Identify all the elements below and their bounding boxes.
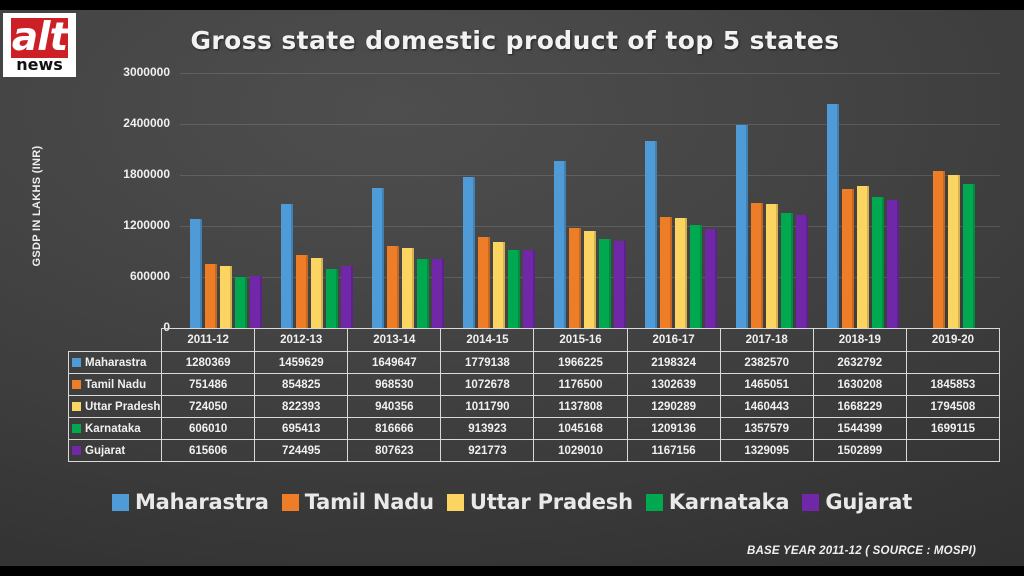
bar-gujarat <box>341 266 353 328</box>
bar-maharastra <box>645 141 657 328</box>
legend-item-tamil-nadu: Tamil Nadu <box>282 490 434 514</box>
data-table: 2011-122012-132013-142014-152015-162016-… <box>68 328 1000 462</box>
table-row-header: Uttar Pradesh <box>69 396 162 418</box>
slide-background: alt news Gross state domestic product of… <box>0 10 1024 566</box>
chart-legend: MaharastraTamil NaduUttar PradeshKarnata… <box>0 490 1024 514</box>
bar-group <box>727 73 818 328</box>
legend-label: Uttar Pradesh <box>470 490 633 514</box>
legend-item-karnataka: Karnataka <box>646 490 789 514</box>
series-swatch-icon <box>72 402 81 411</box>
bar-group <box>544 73 635 328</box>
bar-maharastra <box>190 219 202 328</box>
table-column-header: 2014-15 <box>441 329 534 352</box>
altnews-logo: alt news <box>3 13 76 77</box>
bar-tamil-nadu <box>751 203 763 328</box>
bar-karnataka <box>326 269 338 328</box>
bar-group <box>453 73 544 328</box>
bar-tamil-nadu <box>205 264 217 328</box>
bar-tamil-nadu <box>478 237 490 328</box>
table-cell: 1460443 <box>720 396 813 418</box>
bar-group <box>362 73 453 328</box>
legend-item-maharastra: Maharastra <box>112 490 269 514</box>
legend-swatch-icon <box>112 494 129 511</box>
y-axis-tick-label: 2400000 <box>50 116 170 130</box>
slide-canvas: alt news Gross state domestic product of… <box>0 0 1024 576</box>
bar-uttar-pradesh <box>675 218 687 328</box>
bar-gujarat <box>432 259 444 328</box>
table-cell: 2632792 <box>813 352 906 374</box>
y-axis-tick-label: 1800000 <box>50 167 170 181</box>
table-row: Maharastra128036914596291649647177913819… <box>69 352 1000 374</box>
bar-karnataka <box>417 259 429 328</box>
bar-tamil-nadu <box>933 171 945 328</box>
bar-maharastra <box>281 204 293 328</box>
table-cell: 1794508 <box>906 396 999 418</box>
table-cell: 1465051 <box>720 374 813 396</box>
table-cell: 1544399 <box>813 418 906 440</box>
table-cell: 1668229 <box>813 396 906 418</box>
y-axis-tick-label: 600000 <box>50 269 170 283</box>
table-cell: 1176500 <box>534 374 627 396</box>
table-cell: 807623 <box>348 440 441 462</box>
table-cell: 1459629 <box>255 352 348 374</box>
table-cell: 854825 <box>255 374 348 396</box>
table-cell: 1357579 <box>720 418 813 440</box>
table-cell: 2198324 <box>627 352 720 374</box>
table-cell: 1779138 <box>441 352 534 374</box>
table-cell: 606010 <box>162 418 255 440</box>
series-name: Maharastra <box>85 357 146 369</box>
bar-group <box>818 73 909 328</box>
bar-uttar-pradesh <box>857 186 869 328</box>
table-cell: 695413 <box>255 418 348 440</box>
bar-group <box>180 73 271 328</box>
table-column-header: 2012-13 <box>255 329 348 352</box>
bar-tamil-nadu <box>387 246 399 328</box>
table-cell: 1966225 <box>534 352 627 374</box>
bar-group <box>271 73 362 328</box>
plot-area <box>180 73 1000 328</box>
legend-swatch-icon <box>282 494 299 511</box>
table-cell: 1045168 <box>534 418 627 440</box>
series-name: Uttar Pradesh <box>85 401 160 413</box>
legend-label: Karnataka <box>669 490 789 514</box>
legend-label: Gujarat <box>825 490 912 514</box>
chart-title: Gross state domestic product of top 5 st… <box>150 26 880 55</box>
bar-maharastra <box>372 188 384 328</box>
table-cell: 751486 <box>162 374 255 396</box>
source-note: BASE YEAR 2011-12 ( SOURCE : MOSPI) <box>747 545 976 557</box>
table-corner-cell <box>69 329 162 352</box>
table-column-header: 2015-16 <box>534 329 627 352</box>
table-column-header: 2011-12 <box>162 329 255 352</box>
bar-tamil-nadu <box>569 228 581 328</box>
table-cell: 1290289 <box>627 396 720 418</box>
legend-swatch-icon <box>646 494 663 511</box>
table-cell: 1630208 <box>813 374 906 396</box>
legend-item-uttar-pradesh: Uttar Pradesh <box>447 490 633 514</box>
bar-gujarat <box>887 200 899 328</box>
table-cell: 940356 <box>348 396 441 418</box>
table-cell: 1329095 <box>720 440 813 462</box>
table-column-header: 2018-19 <box>813 329 906 352</box>
table-cell: 913923 <box>441 418 534 440</box>
bar-karnataka <box>508 250 520 328</box>
table-row: Tamil Nadu751486854825968530107267811765… <box>69 374 1000 396</box>
bar-karnataka <box>599 239 611 328</box>
series-swatch-icon <box>72 380 81 389</box>
table-cell: 1649647 <box>348 352 441 374</box>
table-row-header: Karnataka <box>69 418 162 440</box>
series-swatch-icon <box>72 446 81 455</box>
series-name: Gujarat <box>85 445 125 457</box>
legend-swatch-icon <box>802 494 819 511</box>
table-cell: 1845853 <box>906 374 999 396</box>
logo-news-text: news <box>7 57 72 73</box>
bar-uttar-pradesh <box>311 258 323 328</box>
letterbox-bottom <box>0 566 1024 576</box>
bar-uttar-pradesh <box>948 175 960 328</box>
table-row: Uttar Pradesh724050822393940356101179011… <box>69 396 1000 418</box>
bar-maharastra <box>736 125 748 328</box>
table-cell: 1302639 <box>627 374 720 396</box>
table-cell: 1137808 <box>534 396 627 418</box>
table-cell: 1502899 <box>813 440 906 462</box>
series-name: Karnataka <box>85 423 141 435</box>
series-swatch-icon <box>72 424 81 433</box>
legend-label: Tamil Nadu <box>305 490 434 514</box>
series-name: Tamil Nadu <box>85 379 146 391</box>
table-column-header: 2017-18 <box>720 329 813 352</box>
logo-alt-text: alt <box>7 15 72 61</box>
table-cell: 724050 <box>162 396 255 418</box>
table-cell: 724495 <box>255 440 348 462</box>
bar-karnataka <box>690 225 702 328</box>
bar-gujarat <box>796 215 808 328</box>
table-row-header: Tamil Nadu <box>69 374 162 396</box>
table-column-header: 2013-14 <box>348 329 441 352</box>
table-cell: 968530 <box>348 374 441 396</box>
table-cell <box>906 352 999 374</box>
table-cell: 2382570 <box>720 352 813 374</box>
bar-gujarat <box>614 241 626 328</box>
bar-uttar-pradesh <box>220 266 232 328</box>
letterbox-top <box>0 0 1024 10</box>
bar-group <box>909 73 1000 328</box>
table-cell: 1072678 <box>441 374 534 396</box>
series-swatch-icon <box>72 358 81 367</box>
table-cell: 816666 <box>348 418 441 440</box>
y-axis-title: GSDP IN LAKHS (INR) <box>31 106 43 306</box>
table-row: Karnataka6060106954138166669139231045168… <box>69 418 1000 440</box>
bar-uttar-pradesh <box>766 204 778 328</box>
bar-group <box>636 73 727 328</box>
bar-maharastra <box>827 104 839 328</box>
bar-maharastra <box>554 161 566 328</box>
table-cell <box>906 440 999 462</box>
table-cell: 1699115 <box>906 418 999 440</box>
table-row-header: Maharastra <box>69 352 162 374</box>
bar-uttar-pradesh <box>493 242 505 328</box>
bar-tamil-nadu <box>842 189 854 328</box>
bar-uttar-pradesh <box>584 231 596 328</box>
bar-gujarat <box>705 229 717 328</box>
table-row: Gujarat615606724495807623921773102901011… <box>69 440 1000 462</box>
bar-tamil-nadu <box>296 255 308 328</box>
bar-karnataka <box>781 213 793 328</box>
table-cell: 1209136 <box>627 418 720 440</box>
table-column-header: 2016-17 <box>627 329 720 352</box>
legend-item-gujarat: Gujarat <box>802 490 912 514</box>
y-axis-tick-label: 1200000 <box>50 218 170 232</box>
bar-gujarat <box>250 276 262 328</box>
bar-karnataka <box>872 197 884 328</box>
bar-karnataka <box>235 277 247 329</box>
bar-tamil-nadu <box>660 217 672 328</box>
table-header-row: 2011-122012-132013-142014-152015-162016-… <box>69 329 1000 352</box>
bar-gujarat <box>523 250 535 328</box>
bar-maharastra <box>463 177 475 328</box>
bar-karnataka <box>963 184 975 328</box>
table-row-header: Gujarat <box>69 440 162 462</box>
logo-inner: alt news <box>7 17 72 74</box>
table-cell: 1029010 <box>534 440 627 462</box>
table-column-header: 2019-20 <box>906 329 999 352</box>
bar-uttar-pradesh <box>402 248 414 328</box>
table-cell: 1280369 <box>162 352 255 374</box>
table-cell: 615606 <box>162 440 255 462</box>
legend-swatch-icon <box>447 494 464 511</box>
table-cell: 1011790 <box>441 396 534 418</box>
table-cell: 921773 <box>441 440 534 462</box>
table-cell: 822393 <box>255 396 348 418</box>
table-cell: 1167156 <box>627 440 720 462</box>
legend-label: Maharastra <box>135 490 269 514</box>
